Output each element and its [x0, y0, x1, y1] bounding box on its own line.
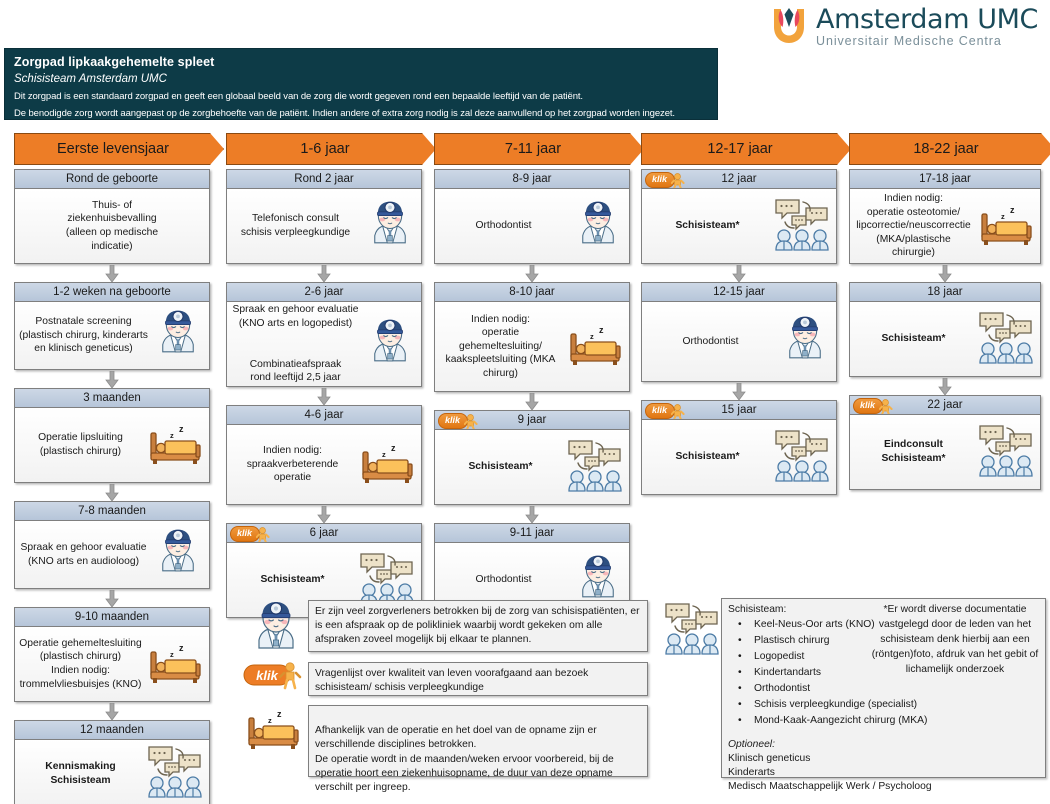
process-box-header: 3 maanden — [15, 389, 209, 408]
flow-arrow — [525, 265, 539, 282]
process-box-body: Operatie lipsluiting(plastisch chirurg) — [15, 408, 209, 482]
process-box-header: klik22 jaar — [850, 396, 1040, 415]
bed-icon — [244, 704, 302, 757]
process-box: 4-6 jaarIndien nodig:spraakverbeterendeo… — [226, 405, 422, 505]
process-box-text: Thuis- ofziekenhuisbevalling(alleen op m… — [15, 197, 209, 255]
process-box-body: Orthodontist — [435, 189, 629, 263]
process-box-header-label: 2-6 jaar — [305, 286, 344, 298]
process-box-text: Orthodontist — [435, 217, 572, 235]
process-box: 7-8 maandenSpraak en gehoor evaluatie(KN… — [14, 501, 210, 589]
process-box: 8-9 jaarOrthodontist — [434, 169, 630, 264]
legend-klik-note-text: Vragenlijst over kwaliteit van leven voo… — [315, 668, 588, 693]
process-box: 12-15 jaarOrthodontist — [641, 282, 837, 382]
process-box-header-label: 9-11 jaar — [510, 527, 555, 539]
process-box-text: Indien nodig:spraakverbeterendeoperatie — [227, 442, 358, 487]
process-box: 8-10 jaarIndien nodig:operatie gehemelte… — [434, 282, 630, 392]
process-box: 1-2 weken na geboortePostnatale screenin… — [14, 282, 210, 370]
flow-arrow — [732, 383, 746, 400]
process-box-header: 17-18 jaar — [850, 170, 1040, 189]
process-box-text: Indien nodig:operatie osteotomie/lipcorr… — [850, 190, 977, 262]
klik-person-icon — [256, 527, 272, 542]
team-icon — [566, 437, 629, 498]
process-box-text: Schisisteam* — [435, 458, 566, 476]
process-box-text: Telefonisch consultschisis verpleegkundi… — [227, 210, 364, 241]
process-box-header-label: Rond 2 jaar — [294, 173, 353, 185]
process-box-body: Spraak en gehoor evaluatie(KNO arts en l… — [227, 302, 421, 386]
process-box-header: 8-9 jaar — [435, 170, 629, 189]
svg-text:klik: klik — [256, 668, 278, 683]
process-box-body: Indien nodig:operatie osteotomie/lipcorr… — [850, 189, 1040, 263]
flow-arrow — [105, 484, 119, 501]
team-icon — [977, 422, 1040, 483]
process-box: 17-18 jaarIndien nodig:operatie osteotom… — [849, 169, 1041, 264]
process-box-body: Indien nodig:spraakverbeterendeoperatie — [227, 425, 421, 504]
column-header-4: 12-17 jaar — [641, 133, 851, 165]
column-header-2: 1-6 jaar — [226, 133, 436, 165]
process-box-body: EindconsultSchisisteam* — [850, 415, 1040, 489]
tulip-logo-icon — [770, 6, 808, 46]
banner-subtitle: Schisisteam Amsterdam UMC — [14, 73, 708, 85]
process-box-header-label: 12 maanden — [80, 724, 144, 736]
process-box-body: Schisisteam* — [435, 430, 629, 504]
column-header-label: Eerste levensjaar — [57, 141, 169, 157]
process-box-text: EindconsultSchisisteam* — [850, 436, 977, 467]
legend-doctor-note: Er zijn veel zorgverleners betrokken bij… — [308, 600, 648, 652]
klik-person-icon — [879, 399, 895, 414]
process-box-header: 12 maanden — [15, 721, 209, 740]
process-box-header: 7-8 maanden — [15, 502, 209, 521]
process-box-text: Orthodontist — [435, 571, 572, 589]
process-box-text: KennismakingSchisisteam — [15, 758, 146, 789]
process-box-body: Telefonisch consultschisis verpleegkundi… — [227, 189, 421, 263]
process-box-header: 4-6 jaar — [227, 406, 421, 425]
flow-arrow — [105, 703, 119, 720]
process-box-body: Schisisteam* — [850, 302, 1040, 376]
klik-badge[interactable]: klik — [853, 398, 895, 414]
team-optional-member: Klinisch geneticus — [728, 752, 1039, 766]
team-icon — [663, 600, 721, 661]
klik-badge[interactable]: klik — [645, 403, 687, 419]
process-box-text: Schisisteam* — [227, 571, 358, 589]
process-box-body: Operatie gehemeltesluiting(plastisch chi… — [15, 627, 209, 701]
team-icon — [977, 309, 1040, 370]
process-box-body: KennismakingSchisisteam — [15, 740, 209, 804]
process-box-header-label: 18 jaar — [927, 286, 962, 298]
process-box-body: Spraak en gehoor evaluatie(KNO arts en a… — [15, 521, 209, 588]
process-box-header: klik12 jaar — [642, 170, 836, 189]
amsterdam-umc-logo: Amsterdam UMC Universitair Medische Cent… — [770, 4, 1038, 48]
process-box-header: klik6 jaar — [227, 524, 421, 543]
team-icon — [773, 196, 836, 257]
process-box[interactable]: klik12 jaarSchisisteam* — [641, 169, 837, 264]
klik-badge[interactable]: klik — [438, 413, 480, 429]
process-box-header-label: 3 maanden — [83, 392, 141, 404]
flow-arrow — [105, 371, 119, 388]
column-header-label: 7-11 jaar — [505, 141, 561, 157]
process-box-header-label: 15 jaar — [721, 404, 756, 416]
process-box-text: Operatie lipsluiting(plastisch chirurg) — [15, 429, 146, 460]
process-box-header-label: 9 jaar — [518, 414, 547, 426]
column-header-3: 7-11 jaar — [434, 133, 644, 165]
process-box-text: Operatie gehemeltesluiting(plastisch chi… — [15, 635, 146, 693]
process-box[interactable]: klik22 jaarEindconsultSchisisteam* — [849, 395, 1041, 490]
column-header-label: 1-6 jaar — [300, 141, 349, 157]
title-banner: Zorgpad lipkaakgehemelte spleet Schisist… — [4, 48, 718, 120]
process-box-header-label: 7-8 maanden — [78, 505, 146, 517]
process-box-body: Schisisteam* — [642, 420, 836, 494]
process-box-header-label: 8-10 jaar — [509, 286, 554, 298]
doctor-icon — [152, 307, 209, 364]
doctor-icon — [364, 316, 421, 373]
process-box-text: Schisisteam* — [642, 448, 773, 466]
process-box-header-label: 1-2 weken na geboorte — [53, 286, 171, 298]
process-box: 18 jaarSchisisteam* — [849, 282, 1041, 377]
flow-arrow — [317, 506, 331, 523]
klik-icon: klik — [243, 658, 305, 697]
klik-person-icon — [671, 404, 687, 419]
banner-line-1: Dit zorgpad is een standaard zorgpad en … — [14, 91, 708, 102]
process-box-header: klik9 jaar — [435, 411, 629, 430]
process-box-header: Rond de geboorte — [15, 170, 209, 189]
flow-arrow — [525, 506, 539, 523]
legend-klik-note: Vragenlijst over kwaliteit van leven voo… — [308, 662, 648, 696]
process-box-text: Orthodontist — [642, 333, 779, 351]
column-header-1: Eerste levensjaar — [14, 133, 224, 165]
care-pathway-poster: Amsterdam UMC Universitair Medische Cent… — [0, 0, 1050, 804]
flow-arrow — [317, 388, 331, 405]
klik-badge[interactable]: klik — [645, 172, 687, 188]
process-box-body: Postnatale screening(plastisch chirurg, … — [15, 302, 209, 369]
flow-arrow — [317, 265, 331, 282]
asterisk-note: *Er wordt diverse documentatie vastgeleg… — [871, 603, 1039, 678]
doctor-icon — [572, 198, 629, 255]
bed-icon — [977, 200, 1040, 253]
process-box-header-label: 4-6 jaar — [305, 409, 344, 421]
process-box-header: klik15 jaar — [642, 401, 836, 420]
flow-arrow — [525, 393, 539, 410]
process-box-text: Spraak en gehoor evaluatie(KNO arts en l… — [227, 301, 364, 386]
flow-arrow — [105, 590, 119, 607]
flow-arrow — [938, 378, 952, 395]
doctor-icon — [779, 313, 836, 370]
process-box-text: Postnatale screening(plastisch chirurg, … — [15, 313, 152, 358]
bed-icon — [358, 438, 421, 491]
flow-arrow — [938, 265, 952, 282]
process-box: Rond de geboorteThuis- ofziekenhuisbeval… — [14, 169, 210, 264]
banner-line-2: De benodigde zorg wordt aangepast op de … — [14, 108, 708, 119]
legend-bed-note: Afhankelijk van de operatie en het doel … — [308, 705, 648, 777]
team-member: Mond-Kaak-Aangezicht chirurg (MKA) — [754, 713, 1039, 729]
klik-person-icon — [464, 414, 480, 429]
process-box-header: 2-6 jaar — [227, 283, 421, 302]
process-box-header: Rond 2 jaar — [227, 170, 421, 189]
process-box-header: 12-15 jaar — [642, 283, 836, 302]
process-box: 9-10 maandenOperatie gehemeltesluiting(p… — [14, 607, 210, 702]
team-optional-member: Kinderarts — [728, 766, 1039, 780]
doctor-icon — [247, 598, 305, 661]
bed-icon — [146, 419, 209, 472]
process-box-header-label: 12 jaar — [721, 173, 756, 185]
team-member: Orthodontist — [754, 681, 1039, 697]
process-box-text: Schisisteam* — [850, 330, 977, 348]
legend-bed-note-text: Afhankelijk van de operatie en het doel … — [315, 725, 614, 793]
process-box-text: Indien nodig:operatie gehemeltesluiting/… — [435, 311, 566, 383]
process-box-header-label: 9-10 maanden — [75, 611, 149, 623]
process-box-header-label: 12-15 jaar — [713, 286, 765, 298]
process-box-body: Thuis- ofziekenhuisbevalling(alleen op m… — [15, 189, 209, 263]
doctor-icon — [364, 198, 421, 255]
klik-person-icon — [671, 173, 687, 188]
logo-subtitle: Universitair Medische Centra — [816, 35, 1038, 48]
bed-icon — [146, 638, 209, 691]
legend-doctor-note-text: Er zijn veel zorgverleners betrokken bij… — [315, 606, 640, 645]
process-box-header-label: Rond de geboorte — [66, 173, 158, 185]
process-box-header-label: 22 jaar — [927, 399, 962, 411]
process-box-header: 1-2 weken na geboorte — [15, 283, 209, 302]
team-optional-member: Medisch Maatschappelijk Werk / Psycholoo… — [728, 780, 1039, 794]
process-box: 3 maandenOperatie lipsluiting(plastisch … — [14, 388, 210, 483]
process-box[interactable]: klik15 jaarSchisisteam* — [641, 400, 837, 495]
process-box-header-label: 8-9 jaar — [513, 173, 552, 185]
process-box-body: Orthodontist — [642, 302, 836, 381]
team-optional-list: Klinisch geneticusKinderartsMedisch Maat… — [728, 752, 1039, 795]
process-box-header: 8-10 jaar — [435, 283, 629, 302]
doctor-icon — [152, 526, 209, 583]
team-member: Schisis verpleegkundige (specialist) — [754, 697, 1039, 713]
process-box-header: 9-11 jaar — [435, 524, 629, 543]
flow-arrow — [105, 265, 119, 282]
process-box-header-label: 6 jaar — [310, 527, 339, 539]
klik-badge[interactable]: klik — [230, 526, 272, 542]
column-header-label: 18-22 jaar — [913, 141, 978, 157]
column-header-label: 12-17 jaar — [707, 141, 772, 157]
process-box-text: Spraak en gehoor evaluatie(KNO arts en a… — [15, 539, 152, 570]
process-box-header: 18 jaar — [850, 283, 1040, 302]
process-box-header: 9-10 maanden — [15, 608, 209, 627]
klik-badge-icon: klik — [243, 658, 305, 692]
process-box-header-label: 17-18 jaar — [919, 173, 971, 185]
process-box: Rond 2 jaarTelefonisch consultschisis ve… — [226, 169, 422, 264]
team-optional-title: Optioneel: — [728, 738, 1039, 752]
banner-title: Zorgpad lipkaakgehemelte spleet — [14, 55, 708, 69]
process-box-body: Indien nodig:operatie gehemeltesluiting/… — [435, 302, 629, 391]
legend-schisisteam: Schisisteam: Keel-Neus-Oor arts (KNO)Pla… — [721, 598, 1046, 778]
process-box-body: Schisisteam* — [642, 189, 836, 263]
flow-arrow — [732, 265, 746, 282]
bed-icon — [566, 320, 629, 373]
process-box: 2-6 jaarSpraak en gehoor evaluatie(KNO a… — [226, 282, 422, 387]
logo-title: Amsterdam UMC — [816, 6, 1038, 33]
team-icon — [773, 427, 836, 488]
process-box[interactable]: klik9 jaarSchisisteam* — [434, 410, 630, 505]
process-box-text: Schisisteam* — [642, 217, 773, 235]
process-box: 12 maandenKennismakingSchisisteam — [14, 720, 210, 804]
column-header-5: 18-22 jaar — [849, 133, 1050, 165]
team-icon — [146, 743, 209, 804]
